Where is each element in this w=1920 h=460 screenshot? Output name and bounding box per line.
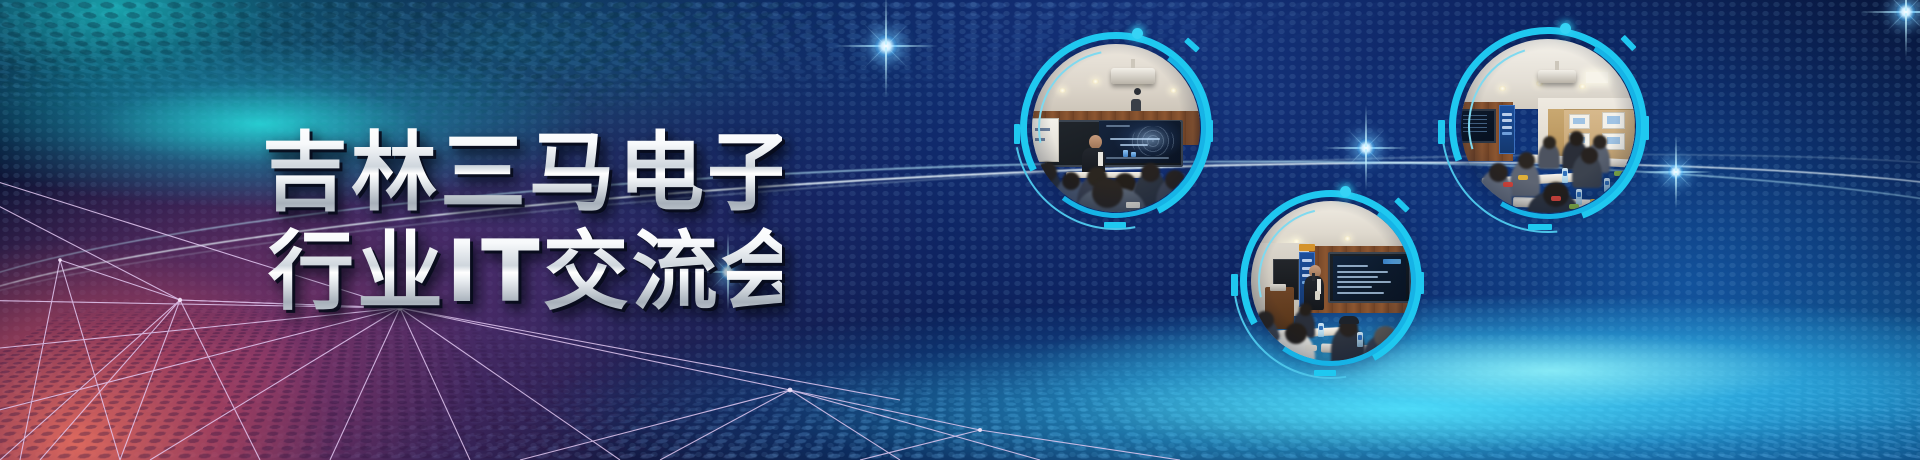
photo-circle-training-room[interactable] bbox=[1444, 22, 1652, 230]
banner-title-line-2: 行业IT交流会 bbox=[268, 223, 782, 322]
photo-ring-decoration bbox=[1236, 186, 1426, 376]
photo-ring-decoration bbox=[1016, 28, 1216, 228]
banner-title-line-1: 吉林三马电子 bbox=[262, 124, 782, 223]
photo-ring-decoration bbox=[1444, 22, 1652, 230]
event-banner: 吉林三马电子 行业IT交流会 bbox=[0, 0, 1920, 460]
banner-title: 吉林三马电子 行业IT交流会 bbox=[262, 124, 782, 322]
photo-circle-speaker-mic[interactable] bbox=[1236, 186, 1426, 376]
photo-circle-lecture-hall[interactable] bbox=[1016, 28, 1216, 228]
